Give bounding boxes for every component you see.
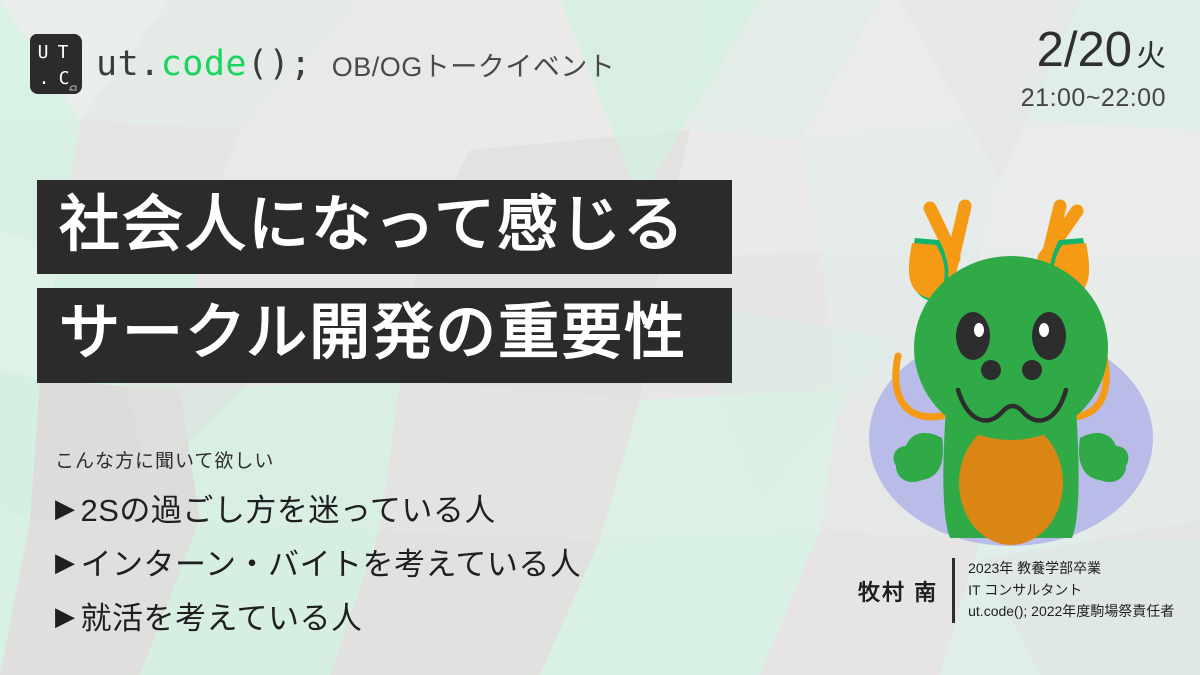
speaker-credential-line: ut.code(); 2022年度駒場祭責任者 xyxy=(968,601,1174,623)
audience-item: ▶ 2Sの過ごし方を迷っている人 xyxy=(55,485,581,530)
audience-item-label: 就活を考えている人 xyxy=(81,593,363,638)
header: U T . C ut.code(); OB/OGトークイベント xyxy=(30,34,615,94)
svg-text:U: U xyxy=(38,42,49,63)
event-subtitle: OB/OGトークイベント xyxy=(332,45,616,84)
speaker-name: 牧村 南 xyxy=(858,575,952,607)
speaker-credential-line: 2023年 教養学部卒業 xyxy=(968,558,1174,580)
dragon-mascot-icon xyxy=(846,138,1176,558)
title-line-2: サークル開発の重要性 xyxy=(37,288,732,382)
title-line-1: 社会人になって感じる xyxy=(37,180,732,274)
event-weekday: 火 xyxy=(1136,42,1166,72)
mascot-nostril-right xyxy=(1022,360,1042,380)
bullet-triangle-icon: ▶ xyxy=(55,603,76,629)
mascot-head xyxy=(914,256,1108,440)
brand-suffix: (); xyxy=(247,47,312,82)
audience-item: ▶ 就活を考えている人 xyxy=(55,593,581,638)
speaker-credentials: 2023年 教養学部卒業 IT コンサルタント ut.code(); 2022年… xyxy=(955,558,1174,623)
audience-item-label: インターン・バイトを考えている人 xyxy=(81,539,582,584)
audience-item-label: 2Sの過ごし方を迷っている人 xyxy=(81,485,496,530)
date-block: 2/20火 21:00~22:00 xyxy=(1021,26,1166,111)
utcode-logo-icon: U T . C xyxy=(30,34,82,94)
bullet-triangle-icon: ▶ xyxy=(55,495,76,521)
mascot-eye-right xyxy=(1032,312,1066,360)
svg-text:T: T xyxy=(58,42,69,63)
event-poster: U T . C ut.code(); OB/OGトークイベント 2/20火 21… xyxy=(0,0,1200,675)
bullet-triangle-icon: ▶ xyxy=(55,549,76,575)
mascot-nostril-left xyxy=(981,360,1001,380)
audience-block: こんな方に聞いて欲しい ▶ 2Sの過ごし方を迷っている人 ▶ インターン・バイト… xyxy=(55,446,581,647)
audience-item: ▶ インターン・バイトを考えている人 xyxy=(55,539,581,584)
audience-lead: こんな方に聞いて欲しい xyxy=(55,446,581,473)
brand-green-word: code xyxy=(161,47,247,82)
event-time: 21:00~22:00 xyxy=(1021,86,1166,111)
brand-wordmark: ut.code(); xyxy=(96,47,312,82)
speaker-block: 牧村 南 2023年 教養学部卒業 IT コンサルタント ut.code(); … xyxy=(858,558,1174,623)
event-date: 2/20火 xyxy=(1021,26,1166,75)
speaker-credential-line: IT コンサルタント xyxy=(968,580,1174,602)
event-day: 2/20 xyxy=(1037,26,1132,75)
mascot-eye-left xyxy=(956,312,990,360)
svg-text:.: . xyxy=(39,68,50,89)
brand-prefix: ut. xyxy=(96,47,161,82)
title-block: 社会人になって感じる サークル開発の重要性 xyxy=(37,180,732,383)
svg-text:C: C xyxy=(59,68,70,89)
